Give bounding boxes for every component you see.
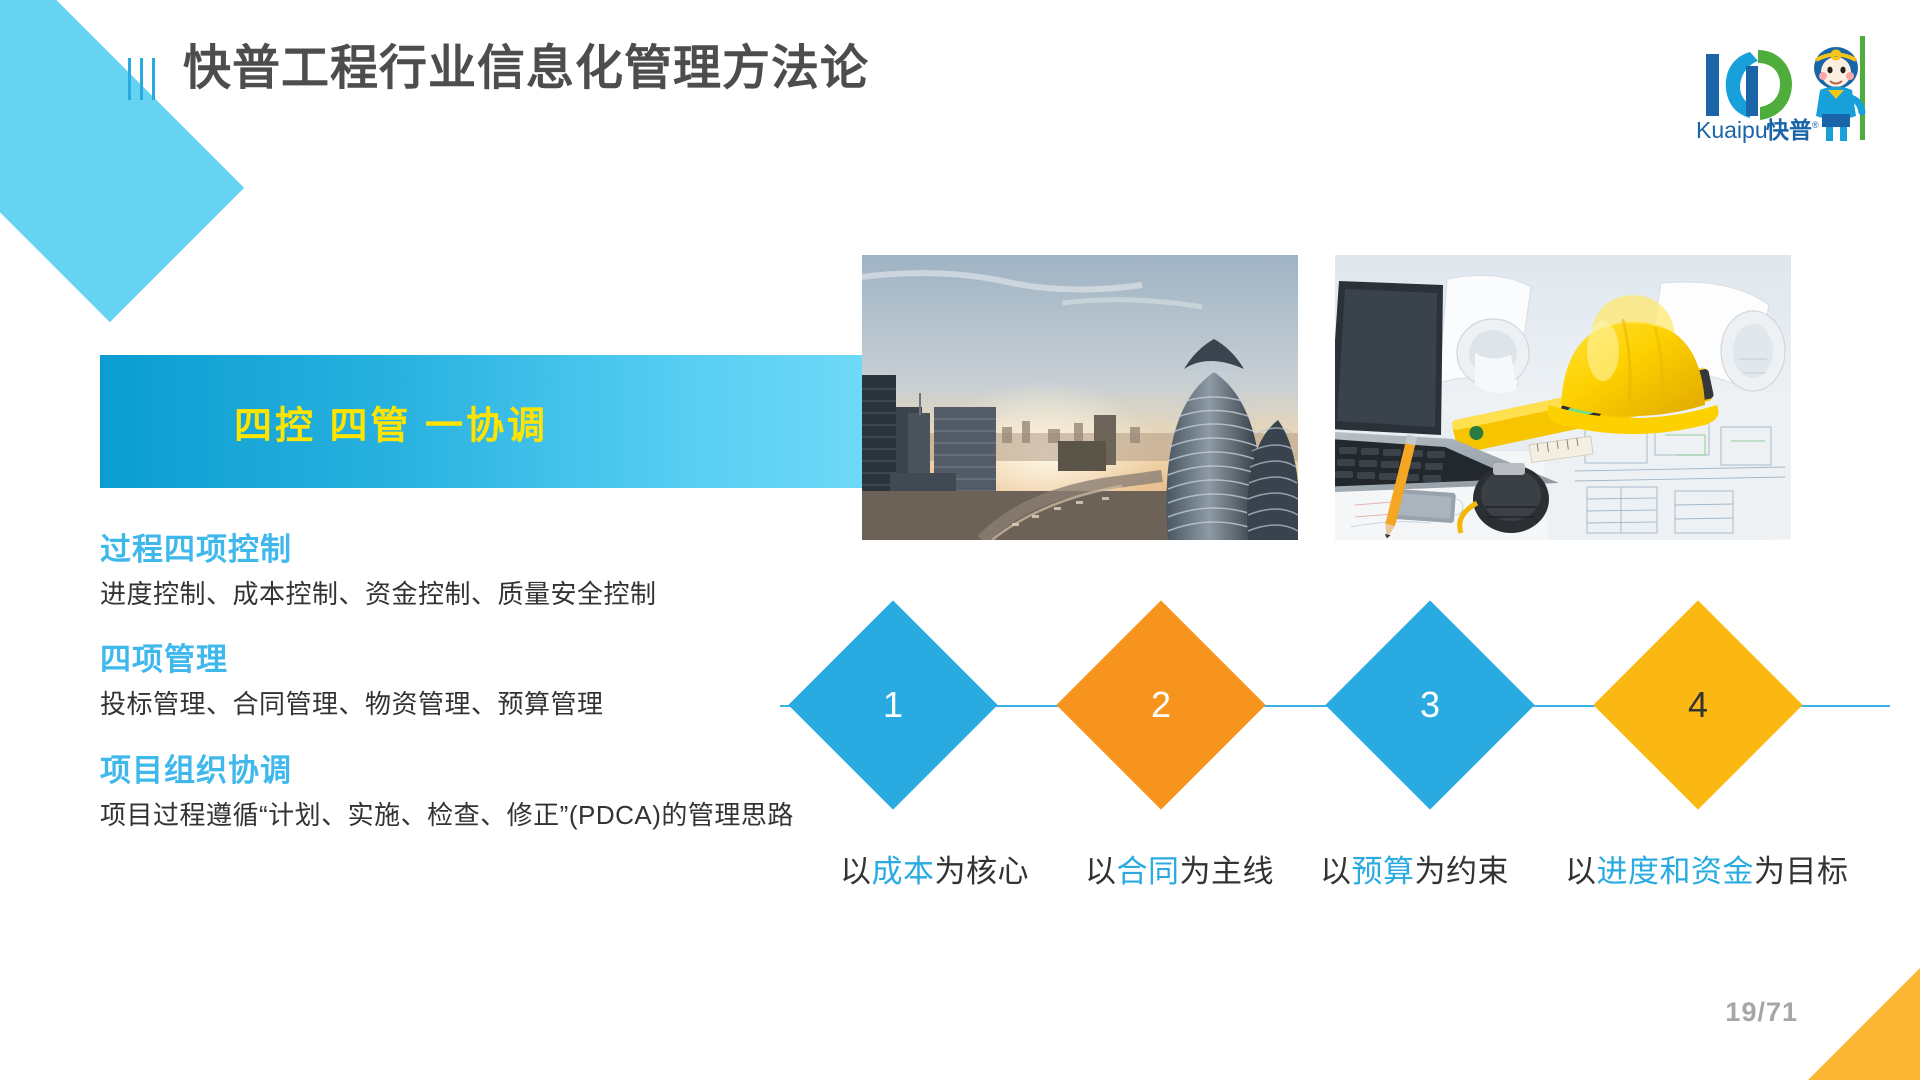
caption-highlight: 合同 <box>1117 854 1180 889</box>
slide-root: 快普工程行业信息化管理方法论 Kuaipu 快普 ® <box>0 0 1920 1080</box>
timeline-caption-2: 以合同为主线 <box>1085 846 1274 891</box>
diamond-number: 3 <box>1356 631 1504 779</box>
svg-text:Kuaipu: Kuaipu <box>1696 117 1768 143</box>
page-number: 19/71 <box>1725 997 1798 1028</box>
caption-prefix: 以 <box>1085 854 1117 889</box>
banner-text: 四控 四管 一协调 <box>100 394 862 449</box>
content-block-3: 项目组织协调 项目过程遵循“计划、实施、检查、修正”(PDCA)的管理思路 <box>100 751 800 835</box>
timeline-caption-3: 以预算为约束 <box>1320 846 1509 891</box>
caption-suffix: 为目标 <box>1754 854 1849 889</box>
three-vertical-bars-icon <box>128 58 155 100</box>
timeline-diamond-4[interactable]: 4 <box>1593 600 1802 809</box>
caption-prefix: 以 <box>1320 854 1352 889</box>
content-block-1: 过程四项控制 进度控制、成本控制、资金控制、质量安全控制 <box>100 530 800 614</box>
kuaipu-logo: Kuaipu 快普 ® <box>1684 28 1880 146</box>
svg-text:®: ® <box>1812 120 1819 130</box>
left-content-column: 过程四项控制 进度控制、成本控制、资金控制、质量安全控制 四项管理 投标管理、合… <box>100 530 800 861</box>
timeline-diamond-3[interactable]: 3 <box>1325 600 1534 809</box>
caption-prefix: 以 <box>840 854 872 889</box>
block-heading: 过程四项控制 <box>100 530 800 571</box>
city-skyline-sunset-photo <box>862 255 1298 540</box>
caption-suffix: 为核心 <box>935 854 1030 889</box>
timeline-caption-1: 以成本为核心 <box>840 846 1029 891</box>
diamond-number: 4 <box>1624 631 1772 779</box>
caption-highlight: 预算 <box>1352 854 1415 889</box>
block-heading: 四项管理 <box>100 640 800 681</box>
timeline-diamond-1[interactable]: 1 <box>788 600 997 809</box>
block-body: 进度控制、成本控制、资金控制、质量安全控制 <box>100 575 800 615</box>
caption-highlight: 进度和资金 <box>1597 854 1755 889</box>
content-block-2: 四项管理 投标管理、合同管理、物资管理、预算管理 <box>100 640 800 724</box>
diamond-number: 1 <box>819 631 967 779</box>
caption-highlight: 成本 <box>872 854 935 889</box>
page-title: 快普工程行业信息化管理方法论 <box>183 40 869 99</box>
construction-desk-photo <box>1335 255 1791 540</box>
slide-header: 快普工程行业信息化管理方法论 <box>0 0 1920 160</box>
caption-suffix: 为约束 <box>1415 854 1510 889</box>
monkey-mascot <box>1814 36 1865 141</box>
block-body: 投标管理、合同管理、物资管理、预算管理 <box>100 685 800 725</box>
caption-suffix: 为主线 <box>1180 854 1275 889</box>
diamond-timeline: 1 2 3 4 <box>780 600 1890 810</box>
diamond-number: 2 <box>1087 631 1235 779</box>
timeline-diamond-2[interactable]: 2 <box>1056 600 1265 809</box>
timeline-captions: 以成本为核心 以合同为主线 以预算为约束 以进度和资金为目标 <box>770 846 1910 896</box>
bottom-right-corner-triangle <box>1808 968 1920 1080</box>
caption-prefix: 以 <box>1565 854 1597 889</box>
svg-text:快普: 快普 <box>1766 117 1812 143</box>
highlight-banner: 四控 四管 一协调 <box>100 355 862 488</box>
block-heading: 项目组织协调 <box>100 751 800 792</box>
timeline-caption-4: 以进度和资金为目标 <box>1565 846 1849 891</box>
block-body: 项目过程遵循“计划、实施、检查、修正”(PDCA)的管理思路 <box>100 796 800 836</box>
